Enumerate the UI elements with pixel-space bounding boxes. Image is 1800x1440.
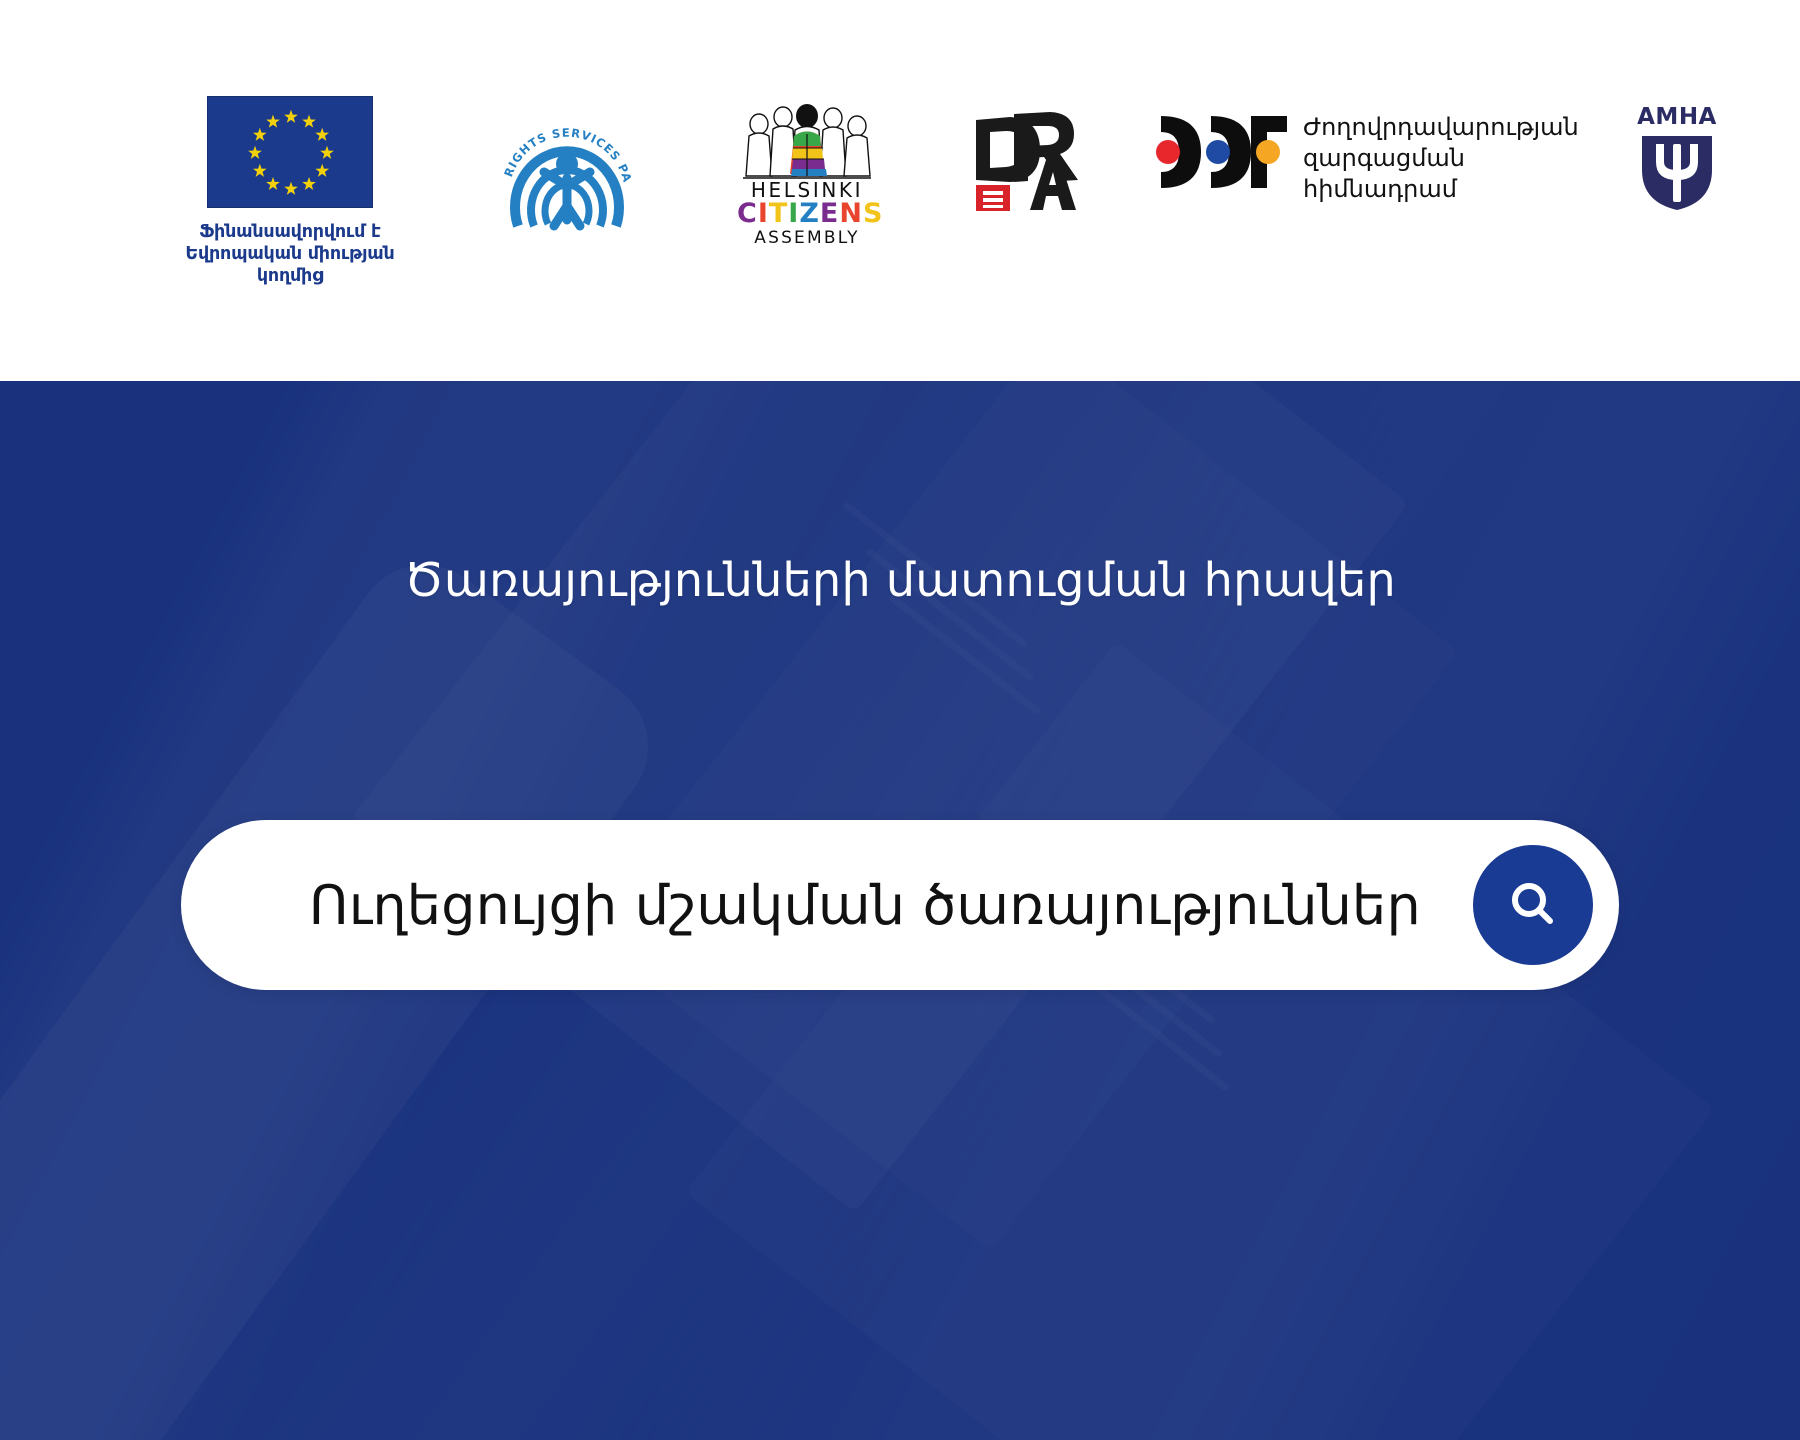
- page-root: Ֆինանսավորվում է Եվրոպական միության կողմ…: [0, 0, 1800, 1440]
- logo-european-union: Ֆինանսավորվում է Եվրոպական միության կողմ…: [160, 96, 420, 287]
- hero-section: Ծառայությունների մատուցման հրավեր: [0, 381, 1800, 1440]
- hca-line-3: ASSEMBLY: [737, 228, 877, 248]
- eu-flag-icon: [207, 96, 373, 208]
- page-title: Ծառայությունների մատուցման հրավեր: [404, 553, 1396, 607]
- logo-rights-services-participation: RIGHTS SERVICES PARTICIPATION: [472, 96, 662, 236]
- logo-dra: [955, 96, 1095, 211]
- person-in-circle-icon: RIGHTS SERVICES PARTICIPATION: [492, 102, 642, 236]
- search-icon: [1504, 875, 1562, 936]
- partner-logo-bar: Ֆինանսավորվում է Եվրոպական միության կողմ…: [0, 0, 1800, 381]
- dra-brush-letters-icon: [970, 106, 1080, 211]
- logo-foundation-for-democracy-development: Ժողովրդավարության զարգացման հիմնադրամ: [1155, 96, 1555, 205]
- search-bar[interactable]: [181, 820, 1619, 990]
- logo-amha: AMHA: [1607, 96, 1747, 214]
- eu-caption: Ֆինանսավորվում է Եվրոպական միության կողմ…: [160, 221, 420, 287]
- search-input[interactable]: [309, 874, 1473, 937]
- logo-helsinki-citizens-assembly: HELSINKI CITIZENS ASSEMBLY: [717, 96, 897, 234]
- search-button[interactable]: [1473, 845, 1593, 965]
- ddf-caption: Ժողովրդավարության զարգացման հիմնադրամ: [1303, 110, 1579, 205]
- amha-wordmark: AMHA: [1622, 104, 1732, 130]
- hca-line-2: CITIZENS: [737, 198, 877, 229]
- people-group-icon: HELSINKI CITIZENS ASSEMBLY: [737, 104, 877, 234]
- ddf-dots-icon: [1155, 110, 1287, 194]
- hero-content: Ծառայությունների մատուցման հրավեր: [0, 381, 1800, 1440]
- shield-psi-icon: AMHA: [1622, 104, 1732, 214]
